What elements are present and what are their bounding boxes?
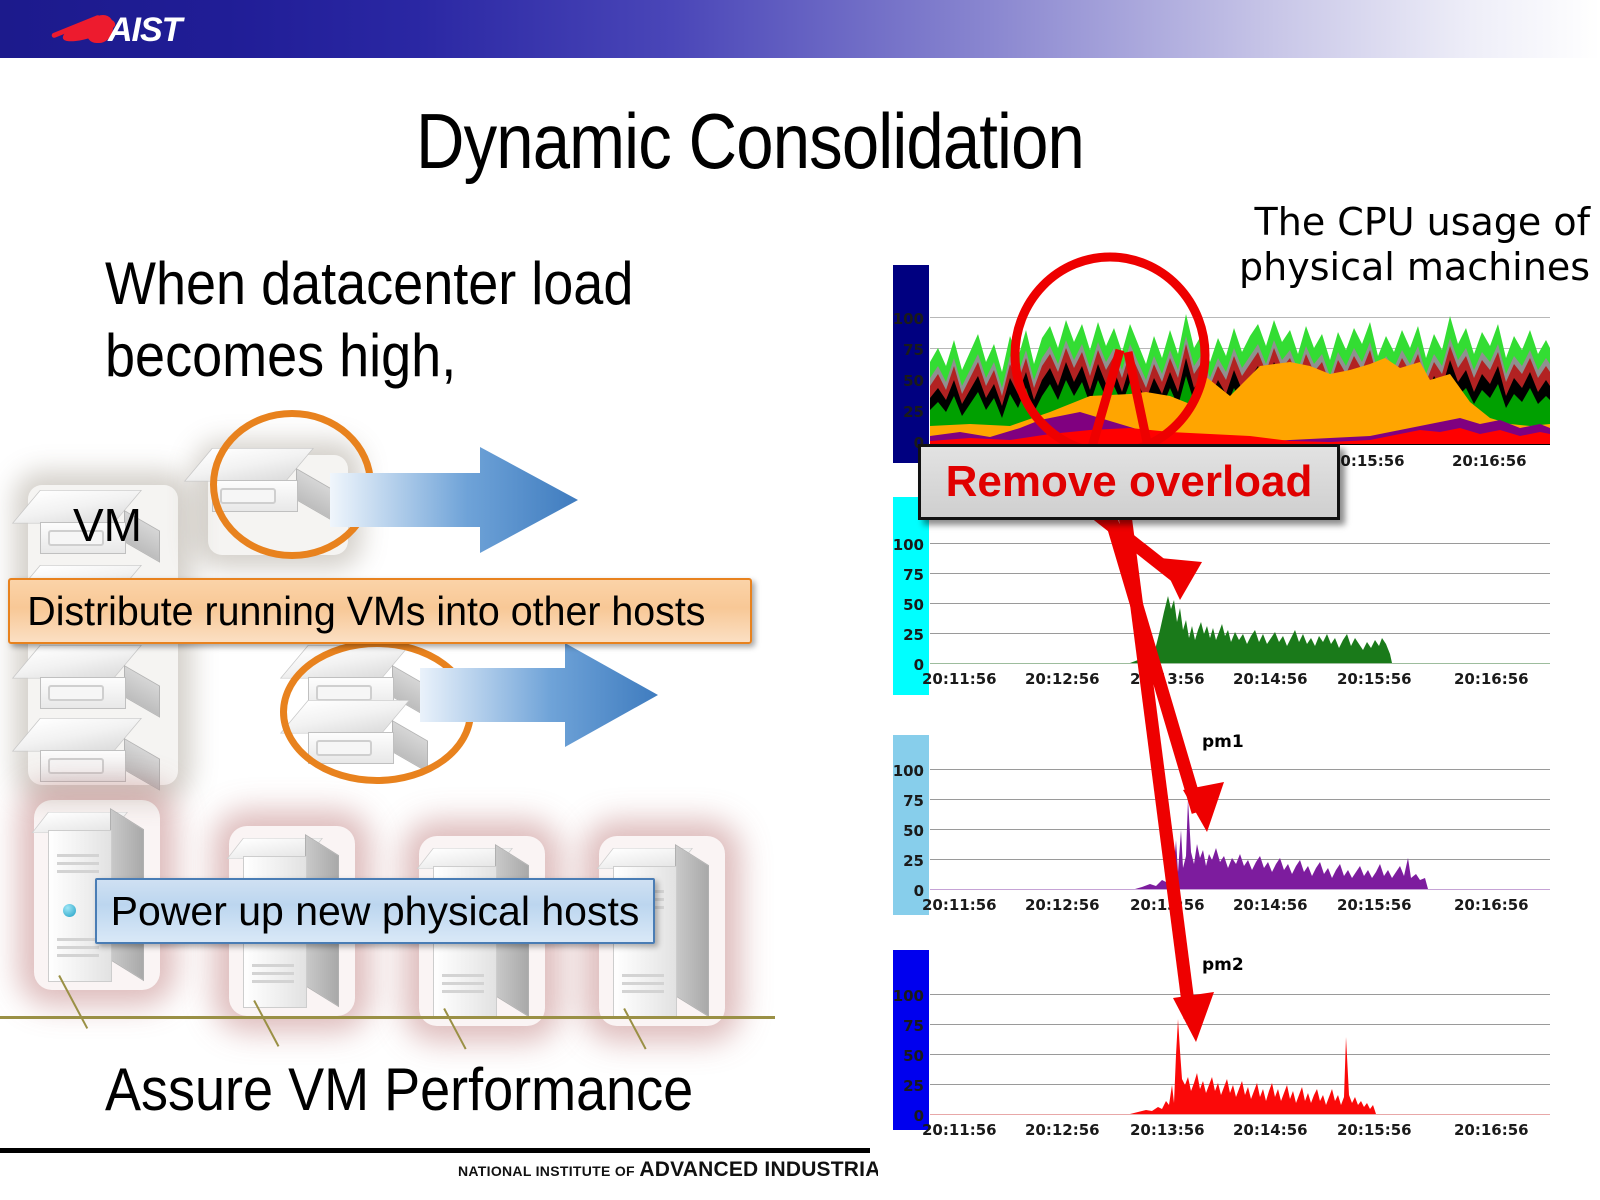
x-tick-label: 20:13:56 (1130, 1121, 1205, 1139)
x-tick-label: 20:11:56 (922, 896, 997, 914)
y-tick-label: 0 (884, 656, 924, 674)
charts-caption: The CPU usage of physical machines (1190, 200, 1590, 290)
y-tick-label: 25 (884, 403, 924, 421)
chart-color-marker-pm2 (893, 950, 929, 1130)
y-tick-label: 75 (884, 341, 924, 359)
tower-vents-icon (57, 938, 99, 941)
x-tick-label: 20:15:56 (1337, 670, 1412, 688)
x-tick-label: 20:14:56 (1233, 896, 1308, 914)
tower-vents-icon (57, 854, 99, 857)
tower-vents-icon (622, 974, 664, 977)
footer-org-big: ADVANCED INDUSTRIAL SCIE (639, 1158, 878, 1181)
y-tick-label: 50 (884, 596, 924, 614)
y-tick-label: 100 (884, 310, 924, 328)
footer-org-small: NATIONAL INSTITUTE OF (458, 1163, 635, 1179)
pm1-cpu-area-plot (930, 760, 1550, 890)
x-tick-label: 20:16:56 (1454, 896, 1529, 914)
pm0-cpu-area-plot (930, 534, 1550, 664)
remove-overload-label: Remove overload (946, 457, 1313, 507)
x-tick-label: 20:13:56 (1130, 896, 1205, 914)
y-tick-label: 75 (884, 1017, 924, 1035)
vm-box-slot (48, 758, 104, 774)
remove-overload-annotation: Remove overload (918, 444, 1340, 520)
logo-wordmark: AIST (108, 11, 181, 50)
tower-power-led-icon (63, 904, 76, 917)
x-tick-label: 20:16:56 (1452, 452, 1527, 470)
tower-side (675, 844, 709, 1017)
vm-box-slot (48, 685, 104, 701)
x-tick-label: 20:14:56 (1233, 1121, 1308, 1139)
chart-pm2-label: pm2 (1202, 955, 1244, 975)
x-tick-label: 20:12:56 (1025, 670, 1100, 688)
x-tick-label: 20:12:56 (1025, 1121, 1100, 1139)
charts-caption-line1: The CPU usage of (1190, 200, 1590, 245)
tower-vents-icon (442, 974, 484, 977)
y-tick-label: 75 (884, 792, 924, 810)
x-tick-label: 20:15:56 (1337, 1121, 1412, 1139)
x-tick-label: 20:14:56 (1233, 670, 1308, 688)
x-tick-label: 20:16:56 (1454, 1121, 1529, 1139)
y-tick-label: 100 (884, 987, 924, 1005)
chart-pm0-cpu: 100 75 50 25 0 20:11:56 20:12:56 20:13:5… (930, 534, 1550, 684)
x-tick-label: 20:15:56 (1337, 896, 1412, 914)
x-tick-label: 20:11:56 (922, 1121, 997, 1139)
migration-arrow-top (330, 443, 580, 558)
y-tick-label: 50 (884, 1047, 924, 1065)
y-tick-label: 100 (884, 536, 924, 554)
network-bus-line (0, 1016, 775, 1019)
y-tick-label: 0 (884, 882, 924, 900)
y-tick-label: 0 (884, 1107, 924, 1125)
x-tick-label: 20:16:56 (1454, 670, 1529, 688)
y-tick-label: 25 (884, 852, 924, 870)
callout-power-label: Power up new physical hosts (111, 888, 640, 935)
conclusion-statement: Assure VM Performance (105, 1055, 693, 1124)
aist-logo: AIST (50, 9, 200, 49)
x-tick-label: 20:11:56 (922, 670, 997, 688)
axis-baseline (930, 1114, 1550, 1115)
pm2-cpu-area-plot (930, 985, 1550, 1115)
x-tick-label: 20:15:56 (1330, 452, 1405, 470)
callout-distribute-label: Distribute running VMs into other hosts (10, 588, 705, 635)
footer-org-name: NATIONAL INSTITUTE OF ADVANCED INDUSTRIA… (458, 1158, 878, 1188)
x-tick-label: 20:13:56 (1130, 670, 1205, 688)
y-tick-label: 50 (884, 372, 924, 390)
callout-power-hosts[interactable]: Power up new physical hosts (95, 878, 655, 944)
callout-distribute-vms[interactable]: Distribute running VMs into other hosts (8, 578, 752, 644)
chart-pm1-label: pm1 (1202, 732, 1244, 752)
vm-stack-label: VM (73, 498, 142, 552)
charts-caption-line2: physical machines (1190, 245, 1590, 290)
page-title: Dynamic Consolidation (105, 96, 1395, 187)
y-tick-label: 50 (884, 822, 924, 840)
chart-pm1-cpu: pm1 100 75 50 25 0 20:11:56 20:12:56 20:… (930, 760, 1550, 910)
y-tick-label: 25 (884, 1077, 924, 1095)
chart-pm2-cpu: pm2 100 75 50 25 0 20:11:56 20:12:56 20:… (930, 985, 1550, 1135)
aist-header-bar: AIST (0, 0, 1600, 58)
y-tick-label: 75 (884, 566, 924, 584)
footer-divider (0, 1148, 870, 1153)
chart-aggregate-cpu: 100 75 50 25 0 20:15:56 20:16:56 (930, 300, 1550, 450)
axis-baseline (930, 663, 1550, 664)
tower-vents-icon (252, 964, 294, 967)
lead-statement: When datacenter load becomes high, (105, 248, 735, 392)
axis-baseline (930, 889, 1550, 890)
y-tick-label: 25 (884, 626, 924, 644)
aggregate-cpu-area-plot (930, 300, 1550, 445)
x-tick-label: 20:12:56 (1025, 896, 1100, 914)
migration-arrow-bottom (420, 640, 660, 750)
y-tick-label: 100 (884, 762, 924, 780)
